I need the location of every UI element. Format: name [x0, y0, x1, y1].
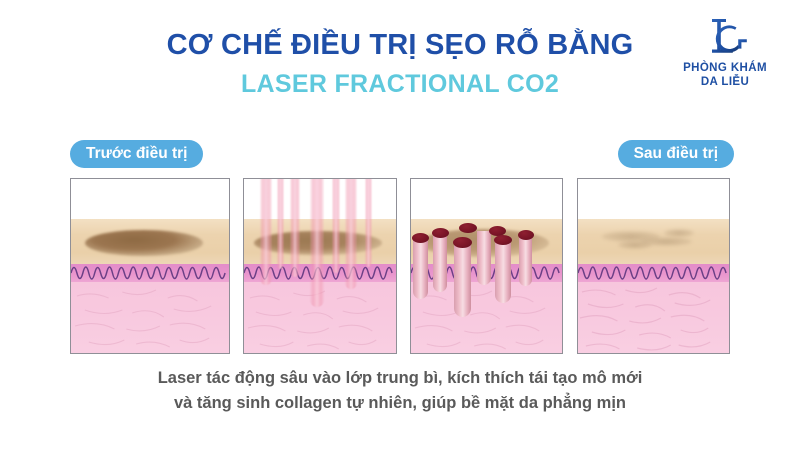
- badge-after-treatment: Sau điều trị: [618, 140, 734, 168]
- layer-air: [411, 179, 562, 219]
- caption-line-2: và tăng sinh collagen tự nhiên, giúp bề …: [0, 391, 800, 416]
- laser-beam: [277, 178, 284, 269]
- healed-scar-remnant: [618, 241, 652, 249]
- ablation-pore: [494, 235, 512, 245]
- dermis-fibres: [578, 282, 729, 354]
- dermis-fibres: [411, 282, 562, 354]
- panel-after-treatment: [577, 178, 730, 354]
- laser-beam: [365, 178, 372, 267]
- ablation-pore: [459, 223, 477, 233]
- scar-lesion: [85, 230, 203, 256]
- micro-channel: [495, 237, 511, 303]
- panel-before-treatment: [70, 178, 230, 354]
- micro-channel: [519, 234, 532, 286]
- laser-beam: [345, 178, 357, 289]
- micro-channel: [413, 237, 428, 299]
- laser-beam: [260, 178, 272, 285]
- laser-beam: [290, 178, 300, 277]
- laser-beam: [332, 178, 340, 273]
- ablation-pore: [432, 228, 449, 238]
- badge-before-treatment: Trước điều trị: [70, 140, 203, 168]
- layer-air: [71, 179, 229, 219]
- caption-line-1: Laser tác động sâu vào lớp trung bì, kíc…: [0, 366, 800, 391]
- healed-scar-remnant: [664, 229, 694, 237]
- micro-channel: [433, 234, 447, 292]
- micro-channel: [477, 231, 491, 285]
- micro-channel: [454, 241, 471, 317]
- ablation-pore: [453, 237, 472, 248]
- layer-air: [578, 179, 729, 219]
- panel-micro-channels: [410, 178, 563, 354]
- page-subtitle: LASER FRACTIONAL CO2: [0, 69, 800, 99]
- dermis-fibres: [71, 282, 229, 354]
- ablation-pore: [412, 233, 429, 243]
- page-title: CƠ CHẾ ĐIỀU TRỊ SẸO RỖ BẰNG: [0, 28, 800, 62]
- ablation-pore: [518, 230, 534, 240]
- laser-beam: [310, 178, 324, 307]
- caption: Laser tác động sâu vào lớp trung bì, kíc…: [0, 366, 800, 416]
- title-block: CƠ CHẾ ĐIỀU TRỊ SẸO RỖ BẰNG LASER FRACTI…: [0, 28, 800, 99]
- panel-laser-beams: [243, 178, 397, 354]
